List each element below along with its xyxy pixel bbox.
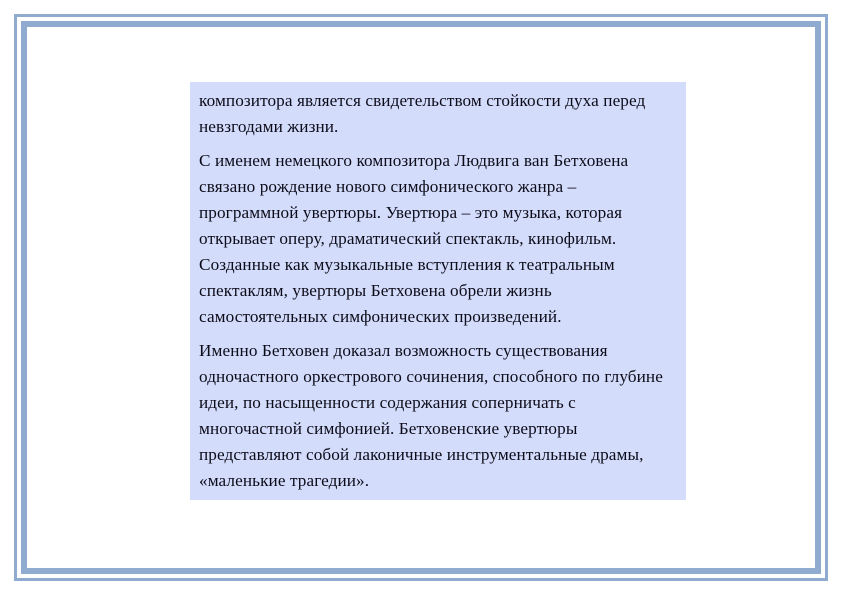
slide-content-area: композитора является свидетельством стой… (27, 27, 815, 568)
body-paragraph: Именно Бетховен доказал возможность суще… (199, 338, 676, 494)
body-paragraph: композитора является свидетельством стой… (199, 88, 676, 140)
highlighted-text-block: композитора является свидетельством стой… (190, 82, 686, 500)
body-paragraph: С именем немецкого композитора Людвига в… (199, 148, 676, 330)
slide-canvas: { "theme": { "frame_color": "#8FABD0", "… (0, 0, 842, 595)
